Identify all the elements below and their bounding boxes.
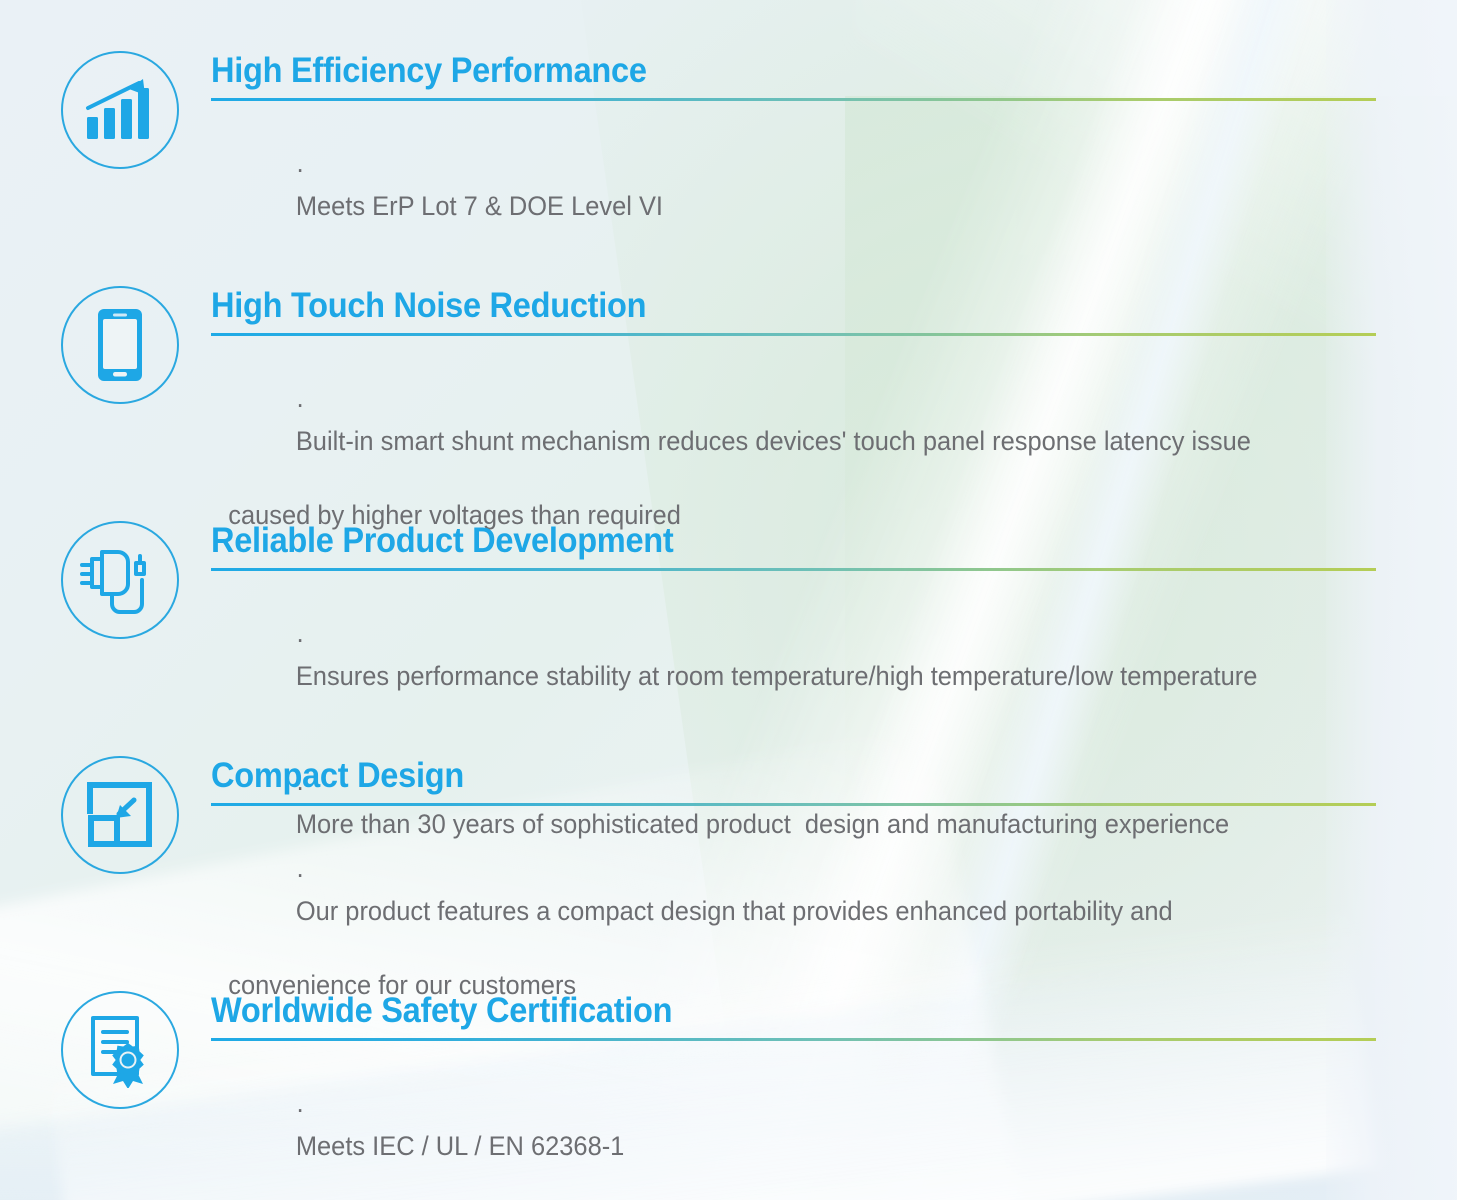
- bullet-marker: ·: [296, 859, 304, 889]
- feature-icon-wrap: [58, 753, 182, 877]
- feature-title: Worldwide Safety Certification: [211, 990, 1299, 1032]
- feature-title: High Touch Noise Reduction: [211, 285, 1299, 327]
- power-adapter-icon: [61, 521, 179, 639]
- feature-icon-wrap: [58, 988, 182, 1112]
- feature-divider: [211, 98, 1376, 101]
- feature-bullets: · Meets IEC / UL / EN 62368-1: [211, 1054, 1381, 1200]
- bullet-text: Built-in smart shunt mechanism reduces d…: [296, 426, 1251, 456]
- bullet-text: Our product features a compact design th…: [296, 896, 1173, 926]
- bar-chart-growth-icon: [61, 51, 179, 169]
- feature-icon-wrap: [58, 283, 182, 407]
- smartphone-icon: [61, 286, 179, 404]
- feature-text-block: High Efficiency Performance · Meets ErP …: [211, 50, 1381, 262]
- feature-title: High Efficiency Performance: [211, 50, 1299, 92]
- bullet-text: Meets ErP Lot 7 & DOE Level VI: [296, 191, 663, 221]
- bullet-marker: ·: [296, 1094, 304, 1124]
- feature-list: High Efficiency Performance · Meets ErP …: [0, 0, 1457, 1200]
- feature-list-page: High Efficiency Performance · Meets ErP …: [0, 0, 1457, 1200]
- feature-divider: [211, 803, 1376, 806]
- bullet-marker: ·: [296, 389, 304, 419]
- bullet-marker: ·: [296, 154, 304, 184]
- feature-text-block: Worldwide Safety Certification · Meets I…: [211, 990, 1381, 1200]
- feature-title: Reliable Product Development: [211, 520, 1299, 562]
- bullet-text: Ensures performance stability at room te…: [296, 661, 1258, 691]
- bullet-item: · Meets IEC / UL / EN 62368-1: [211, 1054, 1334, 1200]
- feature-title: Compact Design: [211, 755, 1299, 797]
- feature-divider: [211, 1038, 1376, 1041]
- feature-icon-wrap: [58, 518, 182, 642]
- feature-divider: [211, 568, 1376, 571]
- feature-bullets: · Meets ErP Lot 7 & DOE Level VI: [211, 114, 1381, 262]
- certificate-award-icon: [61, 991, 179, 1109]
- bullet-item: · Meets ErP Lot 7 & DOE Level VI: [211, 114, 1334, 262]
- bullet-marker: ·: [296, 624, 304, 654]
- compact-resize-icon: [61, 756, 179, 874]
- feature-icon-wrap: [58, 48, 182, 172]
- bullet-item: · Ensures performance stability at room …: [211, 584, 1334, 732]
- feature-divider: [211, 333, 1376, 336]
- bullet-text: Meets IEC / UL / EN 62368-1: [296, 1131, 625, 1161]
